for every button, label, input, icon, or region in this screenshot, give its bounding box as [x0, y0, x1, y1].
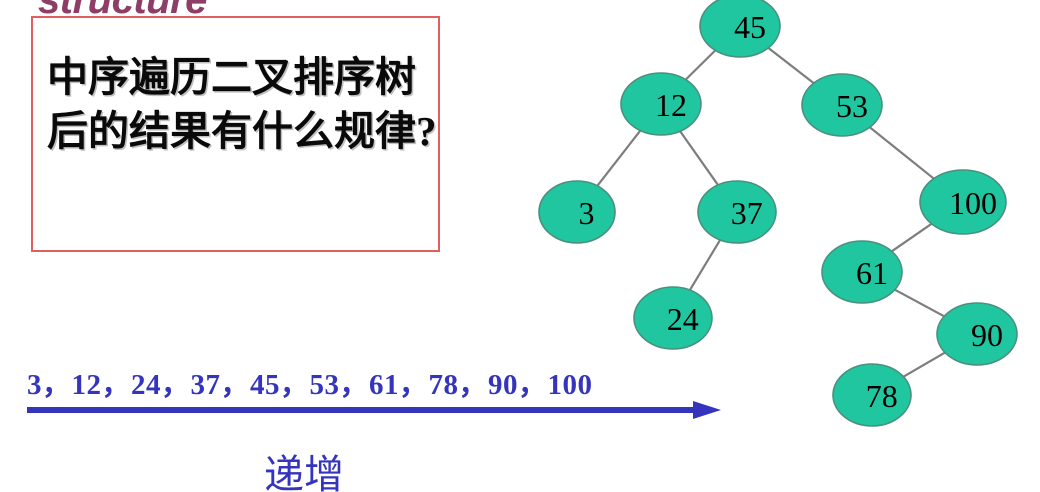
- slide-canvas: structure 中序遍历二叉排序树后的结果有什么规律? 4512533371…: [0, 0, 1040, 492]
- tree-node[interactable]: 37: [698, 181, 776, 243]
- arrow-head: [693, 401, 721, 419]
- tree-node-group: 45125333710061249078: [539, 0, 1017, 426]
- arrow-shaft: [27, 407, 699, 413]
- tree-node-shape: [698, 181, 776, 243]
- tree-edge: [870, 127, 934, 178]
- tree-node-shape: [539, 181, 615, 243]
- tree-edge: [768, 48, 813, 83]
- tree-edge-group: [597, 48, 945, 377]
- question-box: 中序遍历二叉排序树后的结果有什么规律?: [31, 16, 440, 252]
- tree-node-shape: [634, 287, 712, 349]
- tree-node[interactable]: 3: [539, 181, 615, 243]
- tree-edge: [686, 50, 716, 79]
- tree-node[interactable]: 90: [937, 303, 1017, 365]
- tree-node[interactable]: 24: [634, 287, 712, 349]
- tree-node-shape: [822, 241, 902, 303]
- inorder-sequence-text: 3，12，24，37，45，53，61，78，90，100: [27, 361, 593, 403]
- caption-increasing: 递增: [264, 442, 344, 492]
- tree-node-label: 3: [579, 195, 595, 231]
- tree-node-label: 90: [971, 317, 1003, 353]
- tree-node-shape: [621, 73, 701, 135]
- tree-node[interactable]: 61: [822, 241, 902, 303]
- arrow-group: [27, 401, 721, 419]
- tree-node-shape: [802, 74, 882, 136]
- tree-edge: [895, 290, 944, 317]
- tree-node[interactable]: 53: [802, 74, 882, 136]
- tree-node-shape: [920, 170, 1006, 234]
- tree-node-label: 78: [866, 378, 898, 414]
- tree-edge: [903, 353, 945, 377]
- tree-edge: [597, 131, 640, 186]
- tree-node-shape: [937, 303, 1017, 365]
- tree-edge: [680, 131, 718, 185]
- tree-node-shape: [833, 364, 911, 426]
- tree-node[interactable]: 12: [621, 73, 701, 135]
- tree-node-label: 53: [836, 88, 868, 124]
- tree-node-shape: [700, 0, 780, 57]
- tree-node-label: 61: [856, 255, 888, 291]
- tree-edge: [690, 240, 720, 290]
- tree-node-label: 45: [734, 9, 766, 45]
- tree-node-label: 100: [949, 185, 997, 221]
- tree-node[interactable]: 78: [833, 364, 911, 426]
- tree-node-label: 24: [667, 301, 699, 337]
- tree-node[interactable]: 100: [920, 170, 1006, 234]
- tree-node-label: 37: [731, 195, 763, 231]
- tree-node[interactable]: 45: [700, 0, 780, 57]
- tree-edge: [892, 224, 932, 252]
- question-text: 中序遍历二叉排序树后的结果有什么规律?: [47, 50, 437, 158]
- increasing-arrow: [20, 398, 730, 424]
- tree-node-label: 12: [655, 87, 687, 123]
